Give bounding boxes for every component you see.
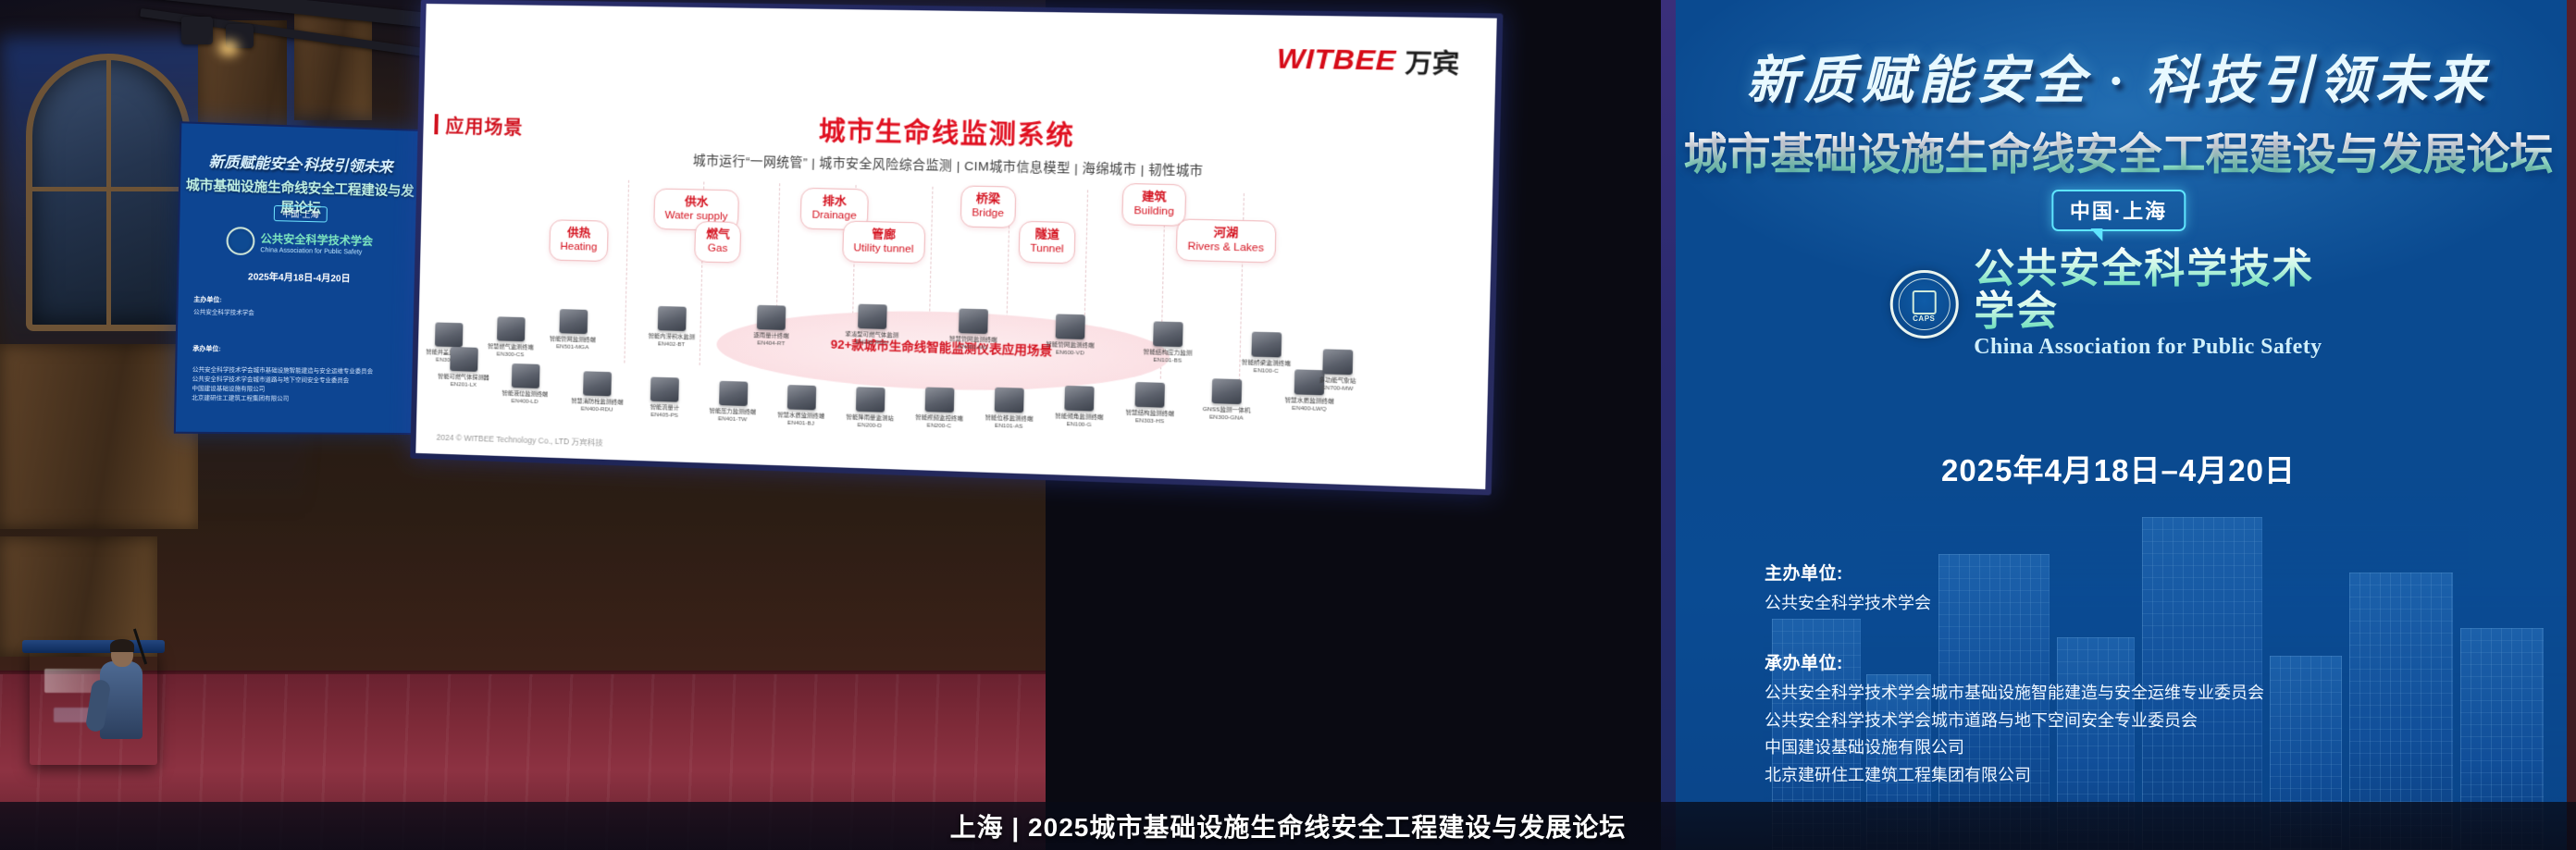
mini-poster-host-line: 公共安全科学技术学会 <box>193 309 254 316</box>
device-icon <box>1251 332 1282 358</box>
caps-seal-abbr: CAPS <box>1913 314 1935 323</box>
device-item: 多功能气象站EN700-MW <box>1307 349 1369 392</box>
host-heading: 主办单位: <box>1765 560 1931 585</box>
scenario-label-cn: 河湖 <box>1188 226 1265 242</box>
device-item: 智能位移监测终端EN101-AS <box>979 387 1040 430</box>
device-item: 智能管网监测终端EN501-MGA <box>543 309 602 351</box>
mini-poster-location-badge: 中国·上海 <box>274 205 328 223</box>
scenario-label-cn: 燃气 <box>706 228 730 242</box>
scenario-label-en: Building <box>1133 204 1174 218</box>
device-icon <box>583 371 612 396</box>
scenario-bubble: 建筑Building <box>1121 183 1186 227</box>
witbee-logo: WITBEE 万宾 <box>1276 40 1459 80</box>
led-screen: WITBEE 万宾 应用场景 城市生命线监测系统 城市运行“一网统管” | 城市… <box>415 4 1496 489</box>
device-item: 智慧结构监测终端EN303-HS <box>1120 381 1182 425</box>
light-spot <box>218 41 239 55</box>
stage-light-fixture <box>181 17 213 44</box>
device-icon <box>719 381 748 406</box>
mini-event-poster: 新质赋能安全·科技引领未来 城市基础设施生命线安全工程建设与发展论坛 中国·上海… <box>174 121 422 435</box>
caption-text: 上海 | 2025城市基础设施生命线安全工程建设与发展论坛 <box>950 807 1627 844</box>
scenario-label-cn: 桥梁 <box>972 192 1004 207</box>
mini-poster-organizer-heading: 承办单位: <box>192 345 405 358</box>
device-item: 智能视频监控终端EN200-C <box>910 387 971 430</box>
scenario-label-en: Bridge <box>972 206 1004 220</box>
device-item: 智能管网监测终端EN600-VD <box>1040 314 1101 357</box>
device-item: 智能降雨量监测站EN200-D <box>840 387 900 430</box>
device-icon <box>757 305 786 330</box>
device-icon <box>1212 378 1243 404</box>
witbee-logo-cn: 万宾 <box>1405 43 1460 81</box>
caps-seal-icon: CAPS <box>1889 270 1958 339</box>
device-item: 智能流量计EN405-PS <box>636 376 695 419</box>
device-item: 智慧消防栓监测终端EN400-RDU <box>568 371 627 413</box>
screenshot-root: 新质赋能安全·科技引领未来 城市基础设施生命线安全工程建设与发展论坛 中国·上海… <box>0 0 2576 850</box>
mini-poster-org-en: China Association for Public Safety <box>260 247 373 256</box>
device-icon <box>858 304 887 329</box>
mini-poster-organizer-block: 承办单位: 公共安全科学技术学会城市基础设施智能建造与安全运维专业委员会 公共安… <box>192 336 405 405</box>
scenario-label-en: Gas <box>706 242 730 256</box>
scenario-bubble: 河湖Rivers & Lakes <box>1175 218 1276 263</box>
scenario-label-en: Heating <box>560 240 597 254</box>
caps-seal-icon <box>226 227 254 255</box>
location-badge: 中国·上海 <box>2051 190 2186 231</box>
event-date: 2025年4月18日–4月20日 <box>1661 446 2576 490</box>
organizer-item: 中国建设基础设施有限公司 <box>1765 734 2264 762</box>
device-icon <box>1322 349 1353 375</box>
device-icon <box>856 387 885 412</box>
scenario-label-en: Tunnel <box>1030 242 1064 256</box>
device-icon <box>559 309 588 334</box>
device-model: EN405-PS <box>636 411 694 419</box>
host-item: 公共安全科学技术学会 <box>1765 590 1931 618</box>
device-icon <box>959 309 988 334</box>
scenario-label-cn: 排水 <box>812 194 858 210</box>
slide-footer: 2024 © WITBEE Technology Co., LTD 万宾科技 <box>436 432 603 449</box>
scenario-bubble: 供热Heating <box>549 219 609 262</box>
scenario-label-cn: 供水 <box>665 195 728 211</box>
mini-poster-org-row: 公共安全科学技术学会 China Association for Public … <box>180 226 418 259</box>
witbee-logo-en: WITBEE <box>1276 43 1396 77</box>
device-icon <box>925 387 955 413</box>
bottom-caption-bar: 上海 | 2025城市基础设施生命线安全工程建设与发展论坛 <box>0 802 2576 850</box>
organization-names: 公共安全科学技术学会 China Association for Public … <box>1974 248 2347 360</box>
device-icon <box>497 316 526 341</box>
device-item: 智慧水质监测终端EN401-BJ <box>772 385 832 427</box>
wall-panel <box>0 536 157 657</box>
arched-window <box>26 54 191 331</box>
device-item: 智能压力监测终端EN401-TW <box>703 380 762 423</box>
device-icon <box>1065 386 1095 412</box>
mini-poster-calligraphy: 新质赋能安全·科技引领未来 <box>180 148 419 178</box>
event-key-visual-panel: 新质赋能安全 · 科技引领未来 城市基础设施生命线安全工程建设与发展论坛 中国·… <box>1661 0 2576 850</box>
wall-panel <box>294 9 372 120</box>
scenario-label-cn: 建筑 <box>1134 190 1175 205</box>
speaker-hair <box>110 639 134 652</box>
host-section: 主办单位: 公共安全科学技术学会 <box>1765 560 1931 618</box>
device-item: GNSS监测一体机EN300-GNA <box>1195 378 1257 422</box>
forum-title: 城市基础设施生命线安全工程建设与发展论坛 <box>1661 118 2576 182</box>
mini-poster-organizer-lines: 公共安全科学技术学会城市基础设施智能建造与安全运维专业委员会 公共安全科学技术学… <box>192 367 373 402</box>
scenario-bubble: 隧道Tunnel <box>1018 221 1076 265</box>
organizer-item: 公共安全科学技术学会城市基础设施智能建造与安全运维专业委员会 <box>1765 680 2264 708</box>
mini-poster-host-heading: 主办单位: <box>193 296 406 310</box>
scenario-label-cn: 管廊 <box>854 228 914 243</box>
device-item: 智能桥梁监测终端EN100-C <box>1235 331 1298 375</box>
device-icon <box>650 377 679 402</box>
wall-panel <box>0 344 198 529</box>
device-item: 智能液位监测终端EN400-LD <box>496 363 554 405</box>
device-icon <box>1135 382 1165 408</box>
device-item: 智慧管网监测终端EN501-MG <box>943 308 1004 351</box>
device-icon <box>658 306 687 331</box>
slide-content: WITBEE 万宾 应用场景 城市生命线监测系统 城市运行“一网统管” | 城市… <box>415 4 1496 489</box>
device-icon <box>995 388 1024 413</box>
organizer-item: 北京建研住工建筑工程集团有限公司 <box>1765 762 2264 790</box>
device-item: 智能结构应力监测EN101-BS <box>1137 321 1199 364</box>
scenario-label-en: Utility tunnel <box>853 241 913 256</box>
mini-poster-date: 2025年4月18日-4月20日 <box>179 267 417 286</box>
device-item: 智能可燃气体探测器EN201-LX <box>435 346 493 388</box>
device-icon <box>1153 321 1183 347</box>
device-icon <box>450 347 478 372</box>
organization-lockup: CAPS 公共安全科学技术学会 China Association for Pu… <box>1889 248 2347 360</box>
device-icon <box>786 385 815 410</box>
scenario-bubble-group: 供水Water supply排水Drainage桥梁Bridge建筑Buildi… <box>420 168 1492 305</box>
device-icon <box>1056 314 1085 339</box>
mini-poster-host-block: 主办单位: 公共安全科学技术学会 <box>193 296 406 321</box>
scenario-bubble: 管廊Utility tunnel <box>842 220 926 264</box>
mini-poster-org-cn: 公共安全科学技术学会 <box>260 231 373 247</box>
caps-seal-inner-icon <box>1912 290 1936 314</box>
organization-name-cn: 公共安全科学技术学会 <box>1974 246 2314 334</box>
scenario-label-en: Rivers & Lakes <box>1187 240 1264 255</box>
device-icon <box>435 322 464 347</box>
device-item: 智能内涝积水监测EN402-BT <box>642 305 701 348</box>
organizer-item: 公共安全科学技术学会城市道路与地下空间安全专业委员会 <box>1765 708 2264 735</box>
host-list: 公共安全科学技术学会 <box>1765 590 1931 618</box>
scenario-label-cn: 供热 <box>561 227 598 241</box>
device-item: 逐雨量计终端EN404-RT <box>741 304 801 347</box>
device-item: 紧凑型可燃气体监测EN202-RDU <box>842 303 902 346</box>
organizers-section: 承办单位: 公共安全科学技术学会城市基础设施智能建造与安全运维专业委员会公共安全… <box>1765 649 2264 790</box>
organization-name-en: China Association for Public Safety <box>1974 335 2347 360</box>
scenario-bubble: 桥梁Bridge <box>960 185 1016 228</box>
calligraphy-headline: 新质赋能安全 · 科技引领未来 <box>1661 39 2576 114</box>
mini-poster-org: 公共安全科学技术学会 China Association for Public … <box>260 229 373 255</box>
scenario-label-cn: 隧道 <box>1030 228 1064 243</box>
organizers-heading: 承办单位: <box>1765 649 2264 674</box>
device-icon <box>511 363 539 388</box>
presentation-slide: WITBEE 万宾 应用场景 城市生命线监测系统 城市运行“一网统管” | 城市… <box>415 4 1496 489</box>
scenario-bubble: 燃气Gas <box>694 221 741 264</box>
organizers-list: 公共安全科学技术学会城市基础设施智能建造与安全运维专业委员会公共安全科学技术学会… <box>1765 680 2264 790</box>
device-item: 智能倾角监测终端EN100-G <box>1048 385 1109 428</box>
